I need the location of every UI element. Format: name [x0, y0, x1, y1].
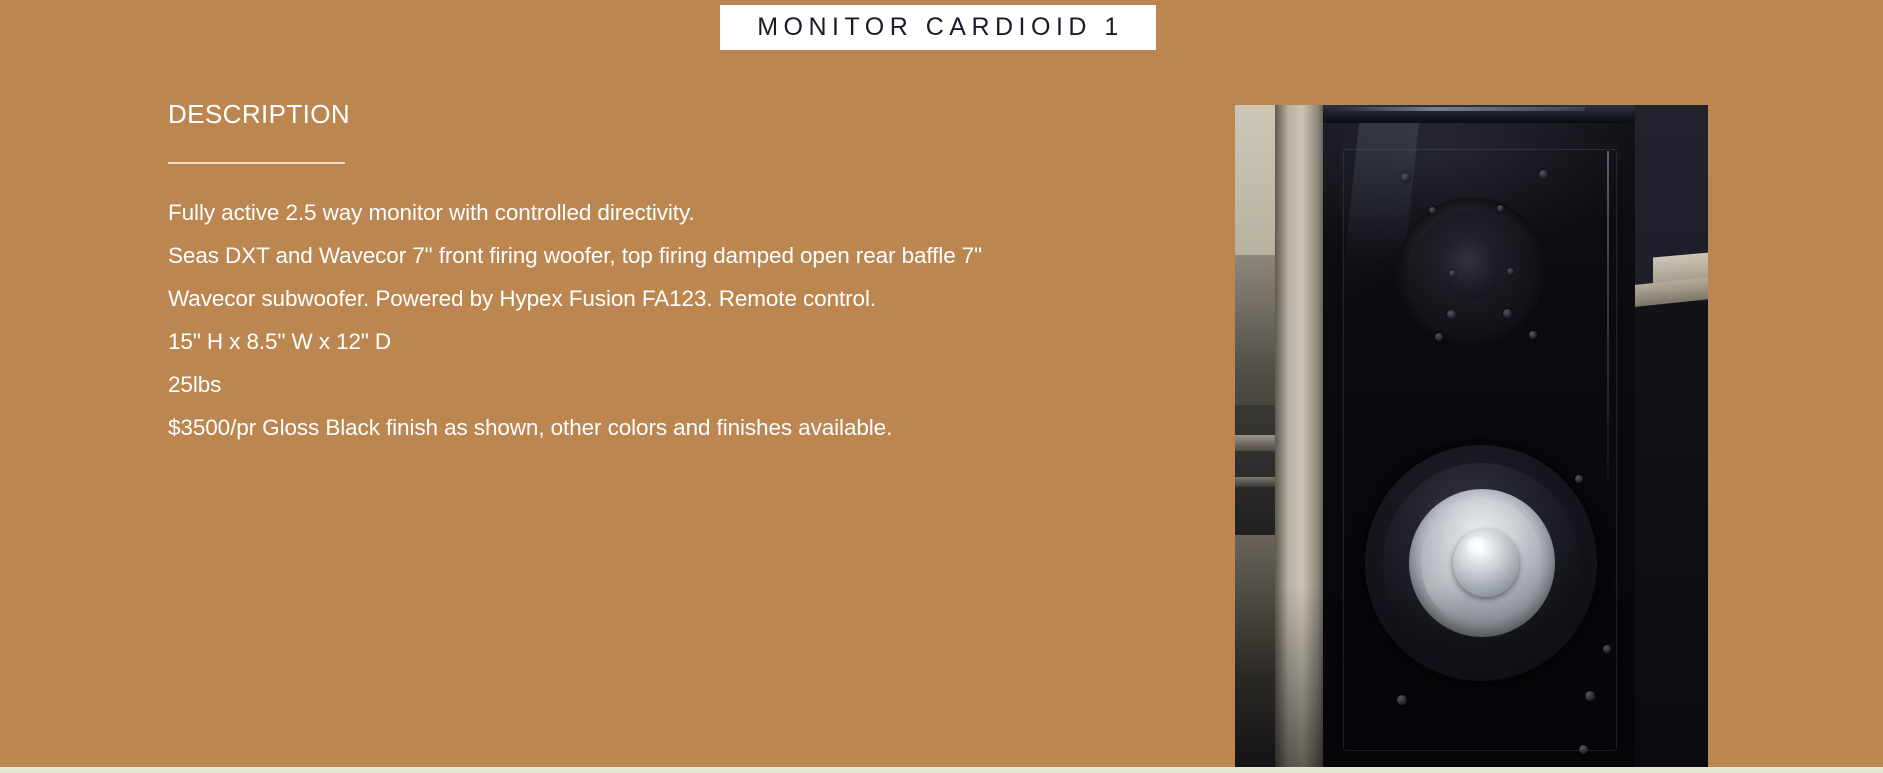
tweeter-driver [1397, 197, 1547, 349]
description-section: DESCRIPTION Fully active 2.5 way monitor… [168, 100, 1188, 449]
driver-screw [1449, 270, 1456, 277]
description-body: Fully active 2.5 way monitor with contro… [168, 191, 1188, 449]
speaker-baffle-edge-highlight [1607, 151, 1609, 481]
woofer-specular-highlight [1465, 537, 1491, 555]
driver-screw [1447, 310, 1456, 319]
driver-screw [1529, 331, 1537, 339]
driver-screw [1435, 333, 1443, 341]
baffle-screw [1539, 170, 1548, 179]
woofer-screw [1603, 645, 1611, 653]
page-title-plate: MONITOR CARDIOID 1 [720, 5, 1156, 50]
page-title: MONITOR CARDIOID 1 [752, 15, 1124, 40]
woofer-screw [1575, 475, 1583, 483]
description-line: Seas DXT and Wavecor 7" front firing woo… [168, 234, 1188, 277]
speaker-top-gloss-highlight [1335, 107, 1585, 111]
woofer-screw [1397, 695, 1407, 705]
product-photo-canvas [1235, 105, 1708, 773]
description-line: $3500/pr Gloss Black finish as shown, ot… [168, 406, 1188, 449]
driver-screw [1497, 205, 1504, 212]
driver-screw [1503, 309, 1512, 318]
product-photo [1235, 105, 1708, 773]
baffle-screw [1401, 173, 1410, 182]
photo-right-shadow [1631, 301, 1708, 773]
woofer-driver [1365, 445, 1597, 681]
speaker-side-shading [1275, 585, 1327, 773]
description-line: Wavecor subwoofer. Powered by Hypex Fusi… [168, 277, 1188, 320]
description-divider [168, 162, 345, 164]
driver-screw [1429, 207, 1436, 214]
bottom-edge-strip [0, 767, 1883, 773]
description-line: 15" H x 8.5" W x 12" D [168, 320, 1188, 363]
description-line: Fully active 2.5 way monitor with contro… [168, 191, 1188, 234]
woofer-screw [1585, 691, 1595, 701]
page-root: MONITOR CARDIOID 1 DESCRIPTION Fully act… [0, 0, 1883, 773]
description-heading: DESCRIPTION [168, 100, 1188, 129]
woofer-screw [1579, 745, 1588, 754]
driver-screw [1507, 268, 1514, 275]
description-line: 25lbs [168, 363, 1188, 406]
